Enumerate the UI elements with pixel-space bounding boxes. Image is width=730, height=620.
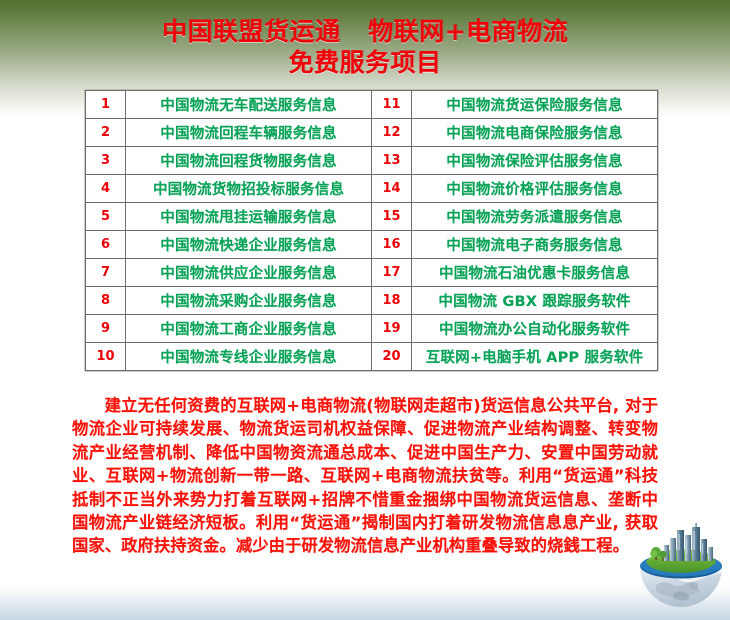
service-item-label: 中国物流无车配送服务信息 xyxy=(126,91,372,119)
service-item-label: 中国物流甩挂运输服务信息 xyxy=(126,203,372,231)
table-row[interactable]: 3 中国物流回程货物服务信息 13 中国物流保险评估服务信息 xyxy=(86,147,658,175)
row-number: 7 xyxy=(86,259,126,287)
service-item-label: 中国物流工商企业服务信息 xyxy=(126,315,372,343)
row-number: 2 xyxy=(86,119,126,147)
service-item-label: 中国物流货物招投标服务信息 xyxy=(126,175,372,203)
service-items-table: 1 中国物流无车配送服务信息 11 中国物流货运保险服务信息 2 中国物流回程车… xyxy=(85,90,658,371)
row-number: 19 xyxy=(372,315,412,343)
row-number: 20 xyxy=(372,343,412,371)
table-row[interactable]: 5 中国物流甩挂运输服务信息 15 中国物流劳务派遣服务信息 xyxy=(86,203,658,231)
row-number: 11 xyxy=(372,91,412,119)
table-row[interactable]: 1 中国物流无车配送服务信息 11 中国物流货运保险服务信息 xyxy=(86,91,658,119)
page-title: 中国联盟货运通 物联网+电商物流 免费服务项目 xyxy=(0,18,730,78)
row-number: 12 xyxy=(372,119,412,147)
title-line-2: 免费服务项目 xyxy=(0,49,730,78)
footer-blue-band xyxy=(0,580,730,620)
row-number: 10 xyxy=(86,343,126,371)
row-number: 15 xyxy=(372,203,412,231)
service-item-label: 中国物流采购企业服务信息 xyxy=(126,287,372,315)
service-item-label: 中国物流电子商务服务信息 xyxy=(412,231,658,259)
service-item-label: 中国物流回程货物服务信息 xyxy=(126,147,372,175)
row-number: 16 xyxy=(372,231,412,259)
service-item-label: 中国物流办公自动化服务软件 xyxy=(412,315,658,343)
description-paragraph: 建立无任何资费的互联网+电商物流(物联网走超市)货运信息公共平台, 对于物流企业… xyxy=(72,394,658,558)
table-row[interactable]: 6 中国物流快递企业服务信息 16 中国物流电子商务服务信息 xyxy=(86,231,658,259)
service-item-label: 中国物流劳务派遣服务信息 xyxy=(412,203,658,231)
row-number: 3 xyxy=(86,147,126,175)
service-item-label: 中国物流价格评估服务信息 xyxy=(412,175,658,203)
service-item-label: 中国物流电商保险服务信息 xyxy=(412,119,658,147)
service-item-label: 互联网+电脑手机 APP 服务软件 xyxy=(412,343,658,371)
service-item-label: 中国物流快递企业服务信息 xyxy=(126,231,372,259)
table-row[interactable]: 8 中国物流采购企业服务信息 18 中国物流 GBX 跟踪服务软件 xyxy=(86,287,658,315)
row-number: 13 xyxy=(372,147,412,175)
service-item-label: 中国物流石油优惠卡服务信息 xyxy=(412,259,658,287)
row-number: 17 xyxy=(372,259,412,287)
service-item-label: 中国物流回程车辆服务信息 xyxy=(126,119,372,147)
table-row[interactable]: 4 中国物流货物招投标服务信息 14 中国物流价格评估服务信息 xyxy=(86,175,658,203)
row-number: 4 xyxy=(86,175,126,203)
table-row[interactable]: 7 中国物流供应企业服务信息 17 中国物流石油优惠卡服务信息 xyxy=(86,259,658,287)
row-number: 14 xyxy=(372,175,412,203)
row-number: 1 xyxy=(86,91,126,119)
row-number: 6 xyxy=(86,231,126,259)
service-item-label: 中国物流保险评估服务信息 xyxy=(412,147,658,175)
row-number: 8 xyxy=(86,287,126,315)
service-item-label: 中国物流专线企业服务信息 xyxy=(126,343,372,371)
row-number: 5 xyxy=(86,203,126,231)
service-item-label: 中国物流供应企业服务信息 xyxy=(126,259,372,287)
service-item-label: 中国物流 GBX 跟踪服务软件 xyxy=(412,287,658,315)
service-item-label: 中国物流货运保险服务信息 xyxy=(412,91,658,119)
table-row[interactable]: 2 中国物流回程车辆服务信息 12 中国物流电商保险服务信息 xyxy=(86,119,658,147)
row-number: 18 xyxy=(372,287,412,315)
earth-globe-city-icon xyxy=(634,523,728,615)
table-row[interactable]: 10 中国物流专线企业服务信息 20 互联网+电脑手机 APP 服务软件 xyxy=(86,343,658,371)
table-body: 1 中国物流无车配送服务信息 11 中国物流货运保险服务信息 2 中国物流回程车… xyxy=(86,91,658,371)
title-line-1: 中国联盟货运通 物联网+电商物流 xyxy=(0,18,730,47)
table-row[interactable]: 9 中国物流工商企业服务信息 19 中国物流办公自动化服务软件 xyxy=(86,315,658,343)
service-items-table-container: 1 中国物流无车配送服务信息 11 中国物流货运保险服务信息 2 中国物流回程车… xyxy=(85,90,637,371)
slide-canvas: 中国联盟货运通 物联网+电商物流 免费服务项目 1 中国物流无车配送服务信息 1… xyxy=(0,0,730,620)
row-number: 9 xyxy=(86,315,126,343)
